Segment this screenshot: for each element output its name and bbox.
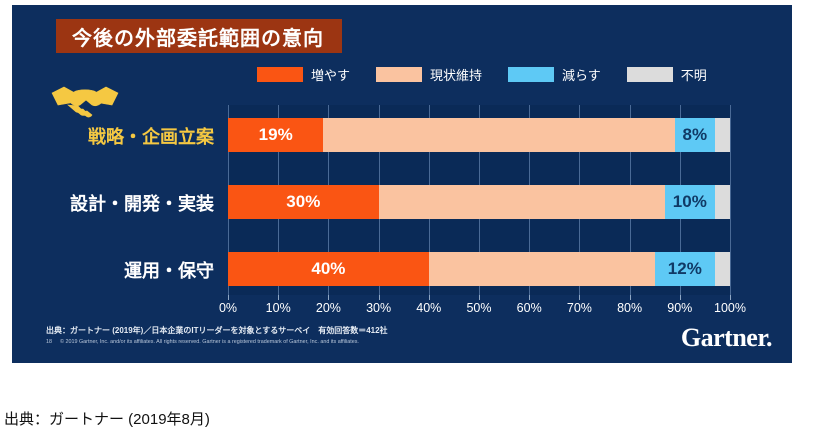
gartner-logo-text: Gartner	[681, 323, 766, 352]
tick-mark-100	[730, 295, 731, 300]
tick-label-70: 70%	[567, 301, 592, 315]
tick-mark-60	[529, 295, 530, 300]
tick-label-0: 0%	[219, 301, 237, 315]
bar-segment-0[interactable]: 40%	[228, 252, 429, 286]
tick-mark-50	[479, 295, 480, 300]
tick-label-30: 30%	[366, 301, 391, 315]
legend-swatch-icon	[508, 67, 554, 82]
legend-item-0[interactable]: 増やす	[257, 65, 350, 84]
tick-label-90: 90%	[667, 301, 692, 315]
tick-mark-30	[379, 295, 380, 300]
category-label-1: 設計・開発・実装	[34, 190, 214, 216]
bar-segment-1[interactable]	[379, 185, 665, 219]
bar-segment-3[interactable]	[715, 185, 730, 219]
bar-segment-1[interactable]	[429, 252, 655, 286]
tick-label-10: 10%	[266, 301, 291, 315]
gartner-logo: Gartner.	[681, 323, 772, 353]
bar-segment-2[interactable]: 10%	[665, 185, 715, 219]
legend-item-3[interactable]: 不明	[627, 65, 707, 84]
legend-label: 不明	[681, 65, 707, 84]
legend-label: 増やす	[311, 65, 350, 84]
tick-label-80: 80%	[617, 301, 642, 315]
tick-mark-40	[429, 295, 430, 300]
legend-item-2[interactable]: 減らす	[508, 65, 601, 84]
tick-label-100: 100%	[714, 301, 746, 315]
tick-mark-10	[278, 295, 279, 300]
tick-mark-90	[680, 295, 681, 300]
bar-row[interactable]: 30%10%	[228, 185, 730, 219]
plot-area: 19%8%30%10%40%12%	[228, 105, 730, 295]
page-number: 18	[46, 339, 52, 345]
figure-caption: 出典：ガートナー (2019年8月)	[4, 408, 210, 429]
copyright-note: © 2019 Gartner, Inc. and/or its affiliat…	[60, 339, 359, 345]
source-note: 出典：ガートナー (2019年)／日本企業のITリーダーを対象とするサーベイ 有…	[46, 325, 388, 336]
bar-segment-2[interactable]: 12%	[655, 252, 715, 286]
gartner-slide: 今後の外部委託範囲の意向 増やす現状維持減らす不明 戦略・企画立案設計・開発・実…	[12, 5, 792, 363]
gartner-logo-dot: .	[766, 323, 772, 352]
legend-swatch-icon	[376, 67, 422, 82]
tick-label-20: 20%	[316, 301, 341, 315]
x-axis: 0%10%20%30%40%50%60%70%80%90%100%	[228, 295, 730, 319]
tick-mark-0	[228, 295, 229, 300]
gridline-100	[730, 105, 731, 295]
category-label-2: 運用・保守	[34, 257, 214, 283]
slide-title-box: 今後の外部委託範囲の意向	[56, 19, 342, 53]
tick-mark-70	[579, 295, 580, 300]
legend-swatch-icon	[257, 67, 303, 82]
category-labels: 戦略・企画立案設計・開発・実装運用・保守	[40, 105, 220, 295]
chart-legend: 増やす現状維持減らす不明	[257, 64, 733, 84]
category-label-0: 戦略・企画立案	[34, 123, 214, 149]
bar-segment-0[interactable]: 30%	[228, 185, 379, 219]
bar-segment-2[interactable]: 8%	[675, 118, 715, 152]
legend-label: 現状維持	[430, 65, 482, 84]
slide-background: 今後の外部委託範囲の意向 増やす現状維持減らす不明 戦略・企画立案設計・開発・実…	[12, 5, 792, 363]
legend-label: 減らす	[562, 65, 601, 84]
bar-segment-0[interactable]: 19%	[228, 118, 323, 152]
page-title: 今後の外部委託範囲の意向	[72, 22, 324, 51]
tick-label-50: 50%	[466, 301, 491, 315]
tick-mark-20	[328, 295, 329, 300]
bar-segment-3[interactable]	[715, 252, 730, 286]
bar-segment-3[interactable]	[715, 118, 730, 152]
legend-swatch-icon	[627, 67, 673, 82]
tick-mark-80	[630, 295, 631, 300]
bar-row[interactable]: 40%12%	[228, 252, 730, 286]
bar-segment-1[interactable]	[323, 118, 674, 152]
legend-item-1[interactable]: 現状維持	[376, 65, 482, 84]
stacked-bar-chart: 戦略・企画立案設計・開発・実装運用・保守 19%8%30%10%40%12% 0…	[40, 105, 740, 320]
tick-label-60: 60%	[517, 301, 542, 315]
bar-row[interactable]: 19%8%	[228, 118, 730, 152]
tick-label-40: 40%	[416, 301, 441, 315]
